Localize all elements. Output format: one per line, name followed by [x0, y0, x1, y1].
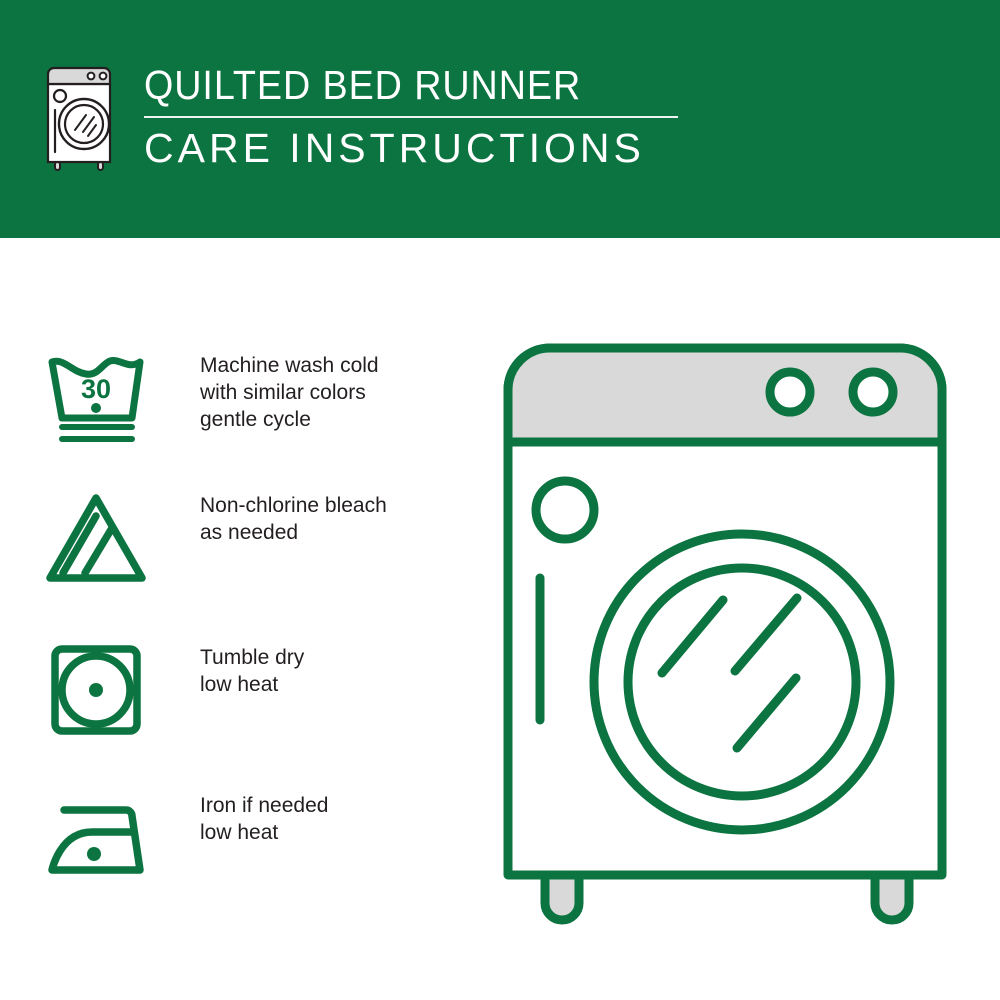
care-row-bleach: Non-chlorine bleach as needed: [44, 488, 464, 588]
care-row-machine-wash: 30 Machine wash cold with similar colors…: [44, 348, 464, 448]
care-text-tumble-dry: Tumble dry low heat: [200, 640, 304, 698]
knob-left: [770, 372, 810, 412]
machine-wash-30-gentle-icon: 30: [44, 348, 156, 448]
non-chlorine-bleach-icon: [44, 488, 156, 588]
care-text-machine-wash: Machine wash cold with similar colors ge…: [200, 348, 379, 433]
page-title-line-1: QUILTED BED RUNNER: [144, 62, 696, 108]
door-inner-ring: [628, 568, 856, 796]
washing-machine-illustration: [490, 330, 960, 940]
care-text-bleach: Non-chlorine bleach as needed: [200, 488, 387, 546]
detergent-circle: [536, 481, 594, 539]
header-content: QUILTED BED RUNNER CARE INSTRUCTIONS: [44, 62, 744, 182]
page-title-line-2: CARE INSTRUCTIONS: [144, 124, 744, 172]
care-row-iron: Iron if needed low heat: [44, 788, 464, 888]
title-divider: [144, 116, 678, 118]
tumble-dry-low-icon: [44, 640, 156, 740]
leg-right: [875, 875, 909, 920]
washing-machine-icon: [44, 62, 118, 174]
leg-left: [545, 875, 579, 920]
care-instructions-page: QUILTED BED RUNNER CARE INSTRUCTIONS 30 …: [0, 0, 1000, 1000]
header-band: QUILTED BED RUNNER CARE INSTRUCTIONS: [0, 0, 1000, 238]
iron-low-icon: [44, 788, 156, 888]
header-title-block: QUILTED BED RUNNER CARE INSTRUCTIONS: [144, 62, 744, 172]
care-text-iron: Iron if needed low heat: [200, 788, 328, 846]
wash-temperature-label: 30: [81, 374, 111, 404]
care-row-tumble-dry: Tumble dry low heat: [44, 640, 464, 740]
knob-right: [853, 372, 893, 412]
